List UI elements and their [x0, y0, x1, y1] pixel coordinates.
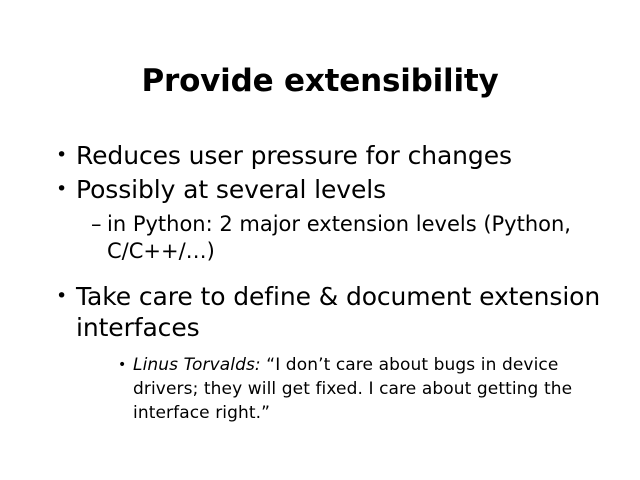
bullet-marker-level2: – — [91, 211, 107, 238]
bullet-marker-level1: • — [56, 140, 76, 171]
list-item-sub-label: in Python: 2 major extension levels (Pyt… — [107, 211, 640, 265]
list-item-sub: – in Python: 2 major extension levels (P… — [0, 211, 640, 265]
list-item-label: Possibly at several levels — [76, 174, 640, 205]
list-item-label: Reduces user pressure for changes — [76, 140, 640, 171]
bullet-marker-level1: • — [56, 281, 76, 312]
list-item-label: Take care to define & document extension… — [76, 281, 640, 343]
spacer — [0, 271, 640, 281]
bullet-marker-level1: • — [56, 174, 76, 205]
list-item: • Possibly at several levels — [0, 174, 640, 205]
presentation-slide: Provide extensibility • Reduces user pre… — [0, 0, 640, 480]
quote-attribution: Linus Torvalds: — [133, 355, 261, 375]
list-item: • Take care to define & document extensi… — [0, 281, 640, 343]
bullet-marker-level3: • — [118, 353, 133, 377]
slide-body: • Reduces user pressure for changes • Po… — [0, 140, 640, 425]
list-item: • Reduces user pressure for changes — [0, 140, 640, 171]
list-item-quote: • Linus Torvalds: “I don’t care about bu… — [0, 353, 640, 425]
page-title: Provide extensibility — [0, 62, 640, 100]
quote-block: Linus Torvalds: “I don’t care about bugs… — [133, 353, 580, 425]
